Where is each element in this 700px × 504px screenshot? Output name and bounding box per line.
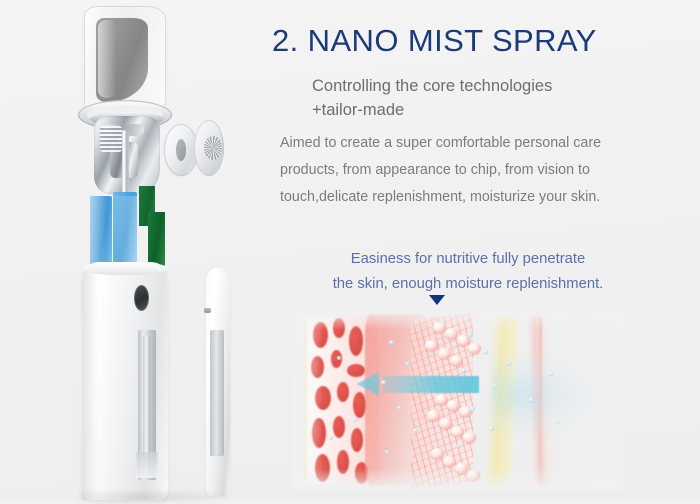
battery-gloss-highlight xyxy=(90,196,137,268)
promo-banner: 2. NANO MIST SPRAY Controlling the core … xyxy=(0,0,700,500)
cover-panel-clip xyxy=(204,308,211,313)
skin-cross-section-illustration xyxy=(293,310,623,490)
body-slot-base xyxy=(136,452,158,478)
highlight-text: Easiness for nutritive fully penetrate t… xyxy=(288,247,648,297)
text-content-panel: 2. NANO MIST SPRAY Controlling the core … xyxy=(255,0,700,500)
subtitle-line-2: +tailor-made xyxy=(312,98,692,122)
body-paragraph: Aimed to create a super comfortable pers… xyxy=(280,130,670,211)
pump-spring xyxy=(100,126,122,152)
body-shading xyxy=(82,262,98,500)
body-top-lip xyxy=(82,262,168,275)
product-drop-shadow xyxy=(78,490,238,504)
page-title: 2. NANO MIST SPRAY xyxy=(272,23,597,59)
subtitle-line-1: Controlling the core technologies xyxy=(312,77,552,95)
triangle-down-icon xyxy=(429,295,445,305)
cap-gloss-highlight xyxy=(98,20,116,98)
circuit-board-lower xyxy=(148,212,165,268)
body-line-2: products, from appearance to chip, from … xyxy=(280,157,670,184)
subtitle: Controlling the core technologies +tailo… xyxy=(312,74,692,122)
atomizer-disc-front-aperture xyxy=(176,139,186,161)
cover-panel-inner-strip xyxy=(210,330,224,456)
diagram-edge-fade xyxy=(293,310,623,490)
body-line-3: touch,delicate replenishment, moisturize… xyxy=(280,184,670,211)
body-line-1: Aimed to create a super comfortable pers… xyxy=(280,130,670,157)
nozzle-port xyxy=(134,285,149,311)
product-image xyxy=(60,0,260,500)
highlight-line-1: Easiness for nutritive fully penetrate xyxy=(288,247,648,272)
highlight-line-2: the skin, enough moisture replenishment. xyxy=(288,272,648,297)
atomizer-disc-rear-gear xyxy=(204,136,222,160)
